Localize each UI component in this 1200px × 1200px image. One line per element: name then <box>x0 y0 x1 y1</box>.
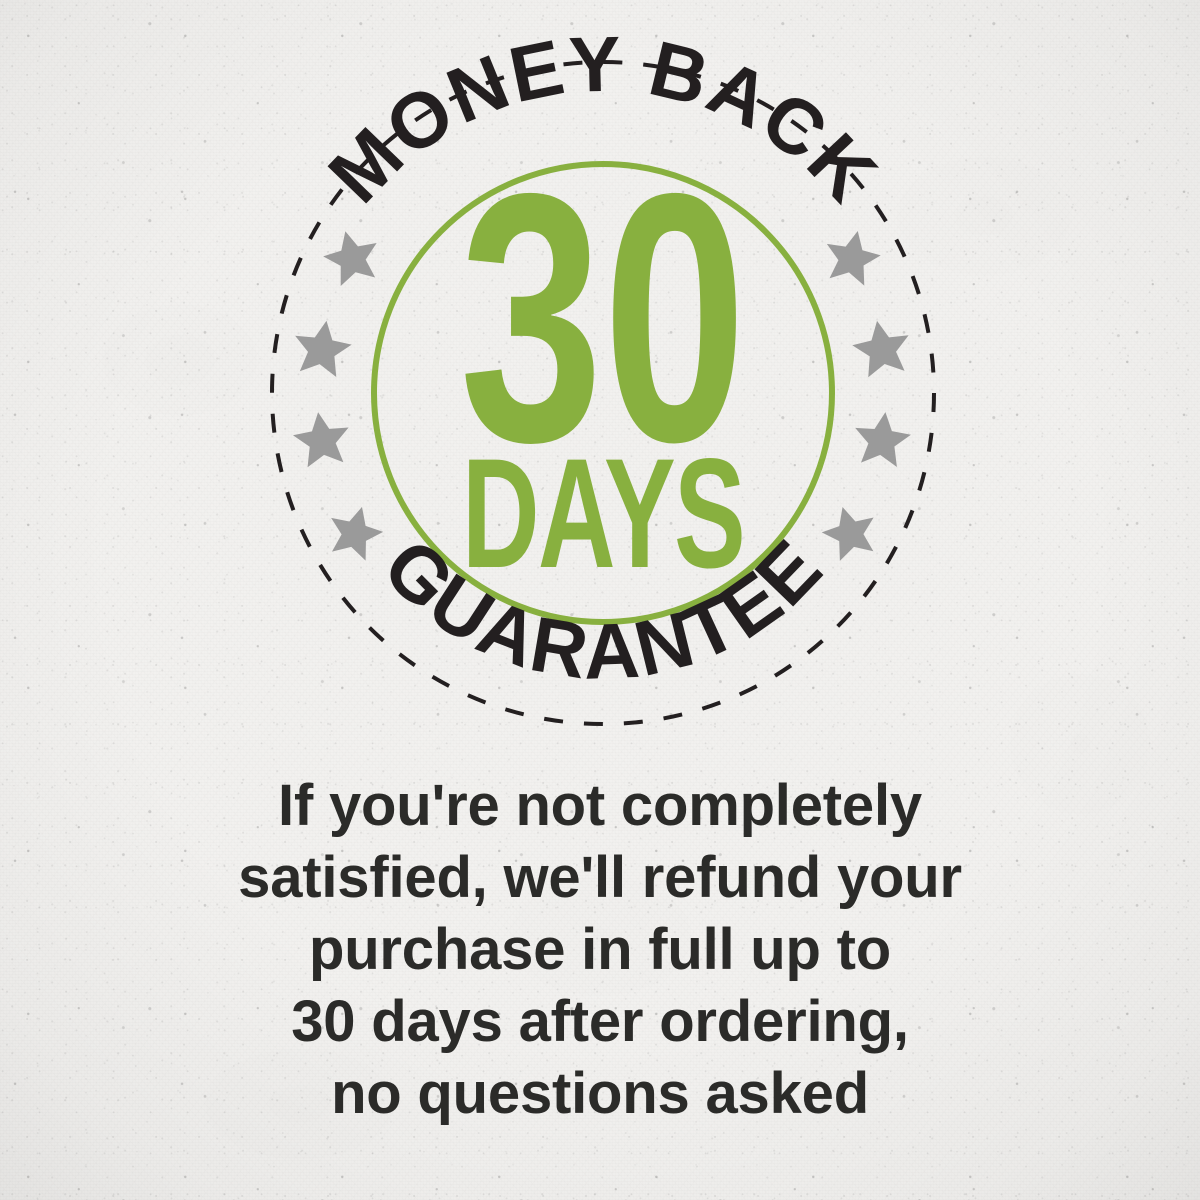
promise-line: If you're not completely <box>0 770 1200 842</box>
star-icon <box>820 225 885 287</box>
star-icon <box>849 316 915 379</box>
star-icon <box>323 500 388 563</box>
guarantee-promise-text: If you're not completely satisfied, we'l… <box>0 770 1200 1130</box>
star-icon <box>817 500 883 564</box>
promise-line: no questions asked <box>0 1058 1200 1130</box>
star-icon <box>319 225 385 289</box>
star-icon <box>851 409 913 468</box>
badge-unit: DAYS <box>462 427 744 601</box>
promise-line: 30 days after ordering, <box>0 986 1200 1058</box>
promise-line: satisfied, we'll refund your <box>0 842 1200 914</box>
star-icon <box>290 408 353 468</box>
promise-line: purchase in full up to <box>0 914 1200 986</box>
star-icon <box>290 316 355 378</box>
guarantee-badge-page: MONEY BACK GUARANTEE 30 DAYS If you're n… <box>0 0 1200 1200</box>
